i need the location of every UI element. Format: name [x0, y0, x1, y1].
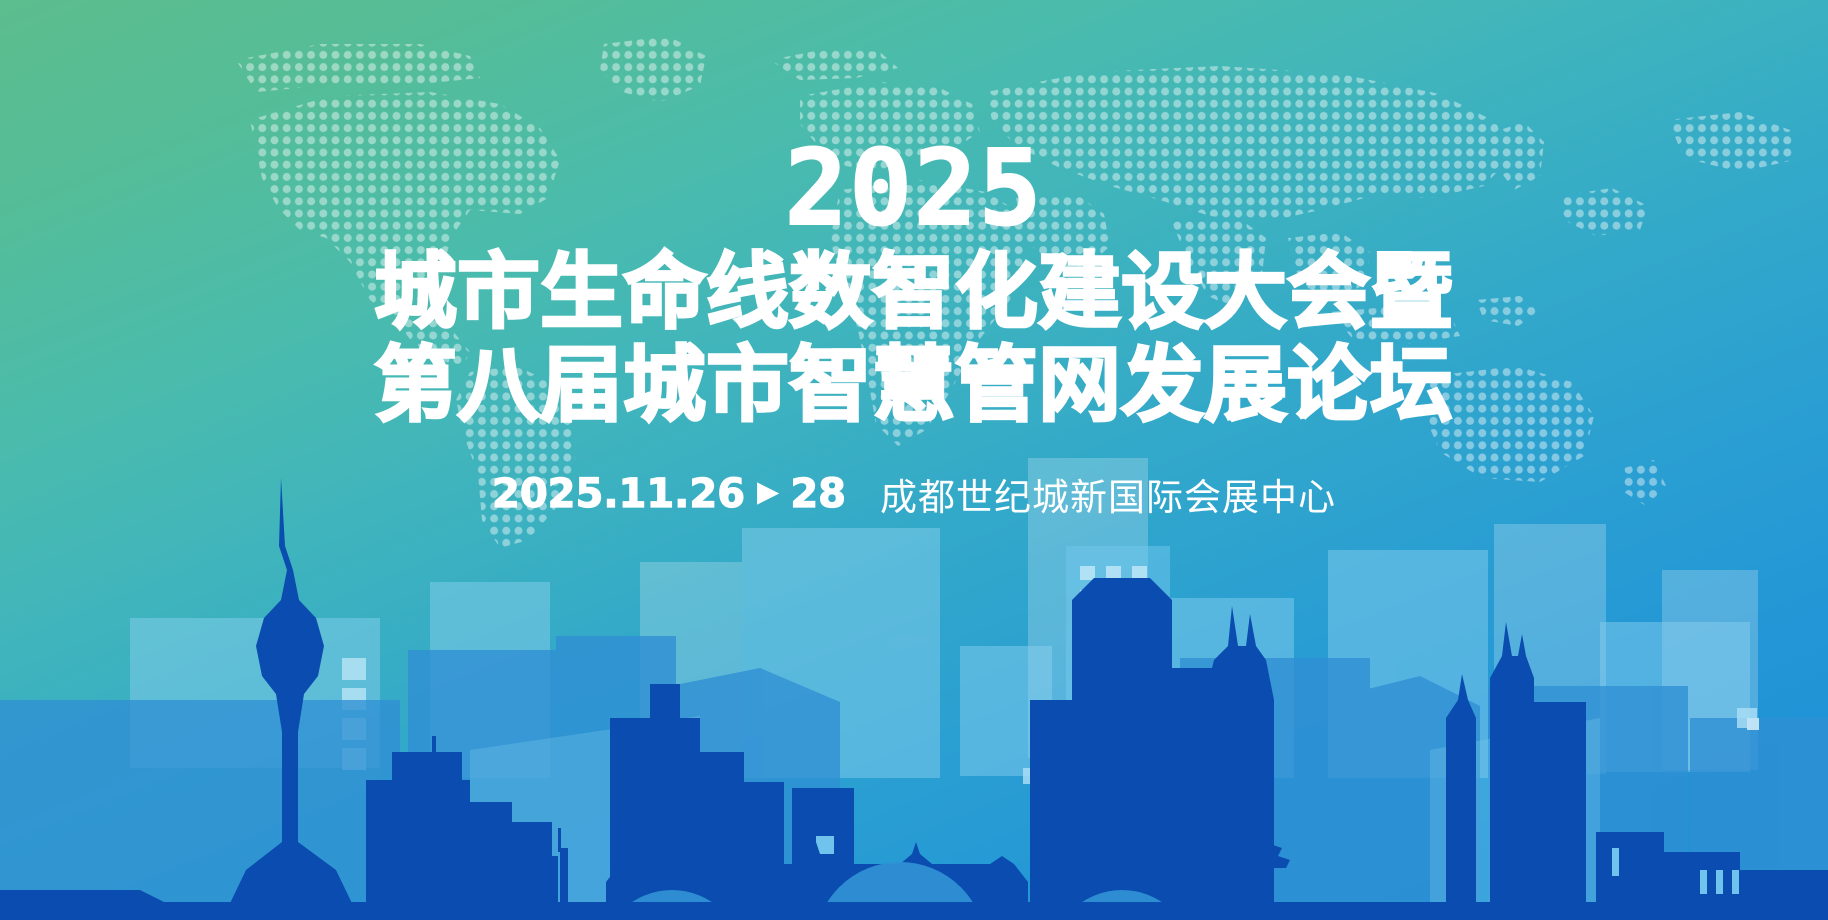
banner-year: 2025 [0, 136, 1828, 240]
banner-meta-line: 2025.11.26 ▶ 28 成都世纪城新国际会展中心 [0, 467, 1828, 521]
date-range-arrow-icon: ▶ [757, 478, 779, 507]
city-skyline-silhouette [0, 450, 1828, 920]
event-date-end: 28 [790, 471, 846, 517]
event-venue: 成都世纪城新国际会展中心 [880, 467, 1336, 521]
banner-text-block: 2025 城市生命线数智化建设大会暨 第八届城市智慧管网发展论坛 2025.11… [0, 0, 1828, 920]
event-date-start: 2025.11.26 [492, 471, 745, 517]
banner-title-line-1: 城市生命线数智化建设大会暨 [0, 252, 1828, 334]
banner-title-line-2: 第八届城市智慧管网发展论坛 [0, 345, 1828, 427]
conference-banner: 2025 城市生命线数智化建设大会暨 第八届城市智慧管网发展论坛 2025.11… [0, 0, 1828, 920]
dotted-world-map [0, 0, 1828, 560]
